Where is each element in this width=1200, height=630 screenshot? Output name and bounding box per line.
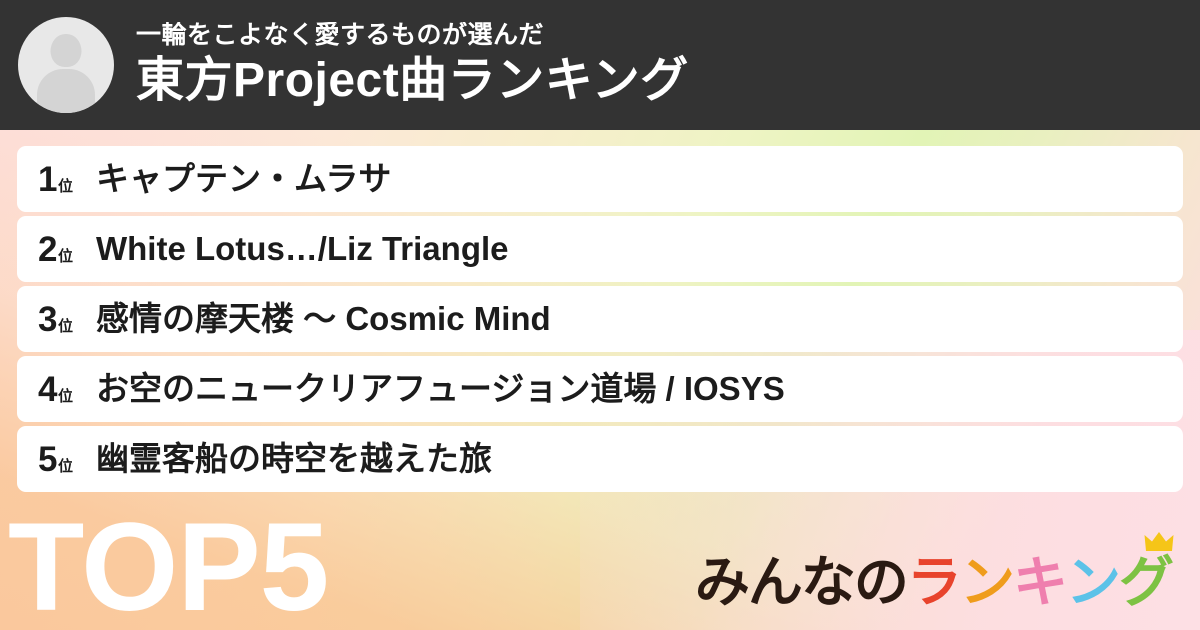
header-text-block: 一輪をこよなく愛するものが選んだ 東方Project曲ランキング: [136, 22, 689, 107]
ogp-card: 一輪をこよなく愛するものが選んだ 東方Project曲ランキング 1 位 キャプ…: [0, 0, 1200, 630]
rank-title-4: お空のニュークリアフュージョン道場 / IOSYS: [96, 370, 785, 408]
rank-badge-1: 1 位: [38, 162, 96, 197]
crown-icon: [1144, 531, 1174, 553]
rank-unit-1: 位: [58, 175, 73, 196]
ranking-row-2[interactable]: 2 位 White Lotus…/Liz Triangle: [17, 216, 1183, 282]
rank-badge-5: 5 位: [38, 442, 96, 477]
rank-unit-3: 位: [58, 315, 73, 336]
rank-title-3: 感情の摩天楼 〜 Cosmic Mind: [96, 300, 551, 338]
top-count-label: TOP5: [8, 505, 328, 630]
header-subtitle: 一輪をこよなく愛するものが選んだ: [136, 22, 689, 50]
rank-number-5: 5: [38, 442, 57, 477]
page-title: 東方Project曲ランキング: [136, 54, 689, 108]
rank-number-3: 3: [38, 302, 57, 337]
ranking-row-1[interactable]: 1 位 キャプテン・ムラサ: [17, 146, 1183, 212]
brand-logo-kana-2: ン: [960, 555, 1013, 610]
avatar-head-shape: [51, 34, 82, 67]
ranking-row-4[interactable]: 4 位 お空のニュークリアフュージョン道場 / IOSYS: [17, 356, 1183, 422]
rank-unit-5: 位: [58, 455, 73, 476]
rank-title-5: 幽霊客船の時空を越えた旅: [96, 440, 492, 478]
brand-logo-kana-5-wrap: グ: [1119, 555, 1172, 610]
rank-unit-4: 位: [58, 385, 73, 406]
ranking-row-3[interactable]: 3 位 感情の摩天楼 〜 Cosmic Mind: [17, 286, 1183, 352]
header-bar: 一輪をこよなく愛するものが選んだ 東方Project曲ランキング: [0, 0, 1200, 130]
avatar-body-shape: [37, 69, 95, 113]
brand-logo-kana-5: グ: [1119, 551, 1172, 613]
brand-logo-plain-text: みんなの: [695, 555, 907, 610]
rank-number-4: 4: [38, 372, 57, 407]
user-avatar-icon: [18, 17, 114, 113]
rank-number-1: 1: [38, 162, 57, 197]
rank-title-1: キャプテン・ムラサ: [96, 160, 391, 198]
brand-logo-kana-3: キ: [1013, 555, 1066, 610]
rank-badge-4: 4 位: [38, 372, 96, 407]
rank-unit-2: 位: [58, 245, 73, 266]
brand-logo-kana-4: ン: [1066, 555, 1119, 610]
ranking-list: 1 位 キャプテン・ムラサ 2 位 White Lotus…/Liz Trian…: [17, 146, 1183, 496]
brand-logo-kana-1: ラ: [907, 555, 960, 610]
rank-badge-2: 2 位: [38, 232, 96, 267]
rank-title-2: White Lotus…/Liz Triangle: [96, 230, 509, 268]
rank-number-2: 2: [38, 232, 57, 267]
brand-logo[interactable]: みんなの ラ ン キ ン グ: [695, 555, 1172, 610]
rank-badge-3: 3 位: [38, 302, 96, 337]
ranking-row-5[interactable]: 5 位 幽霊客船の時空を越えた旅: [17, 426, 1183, 492]
